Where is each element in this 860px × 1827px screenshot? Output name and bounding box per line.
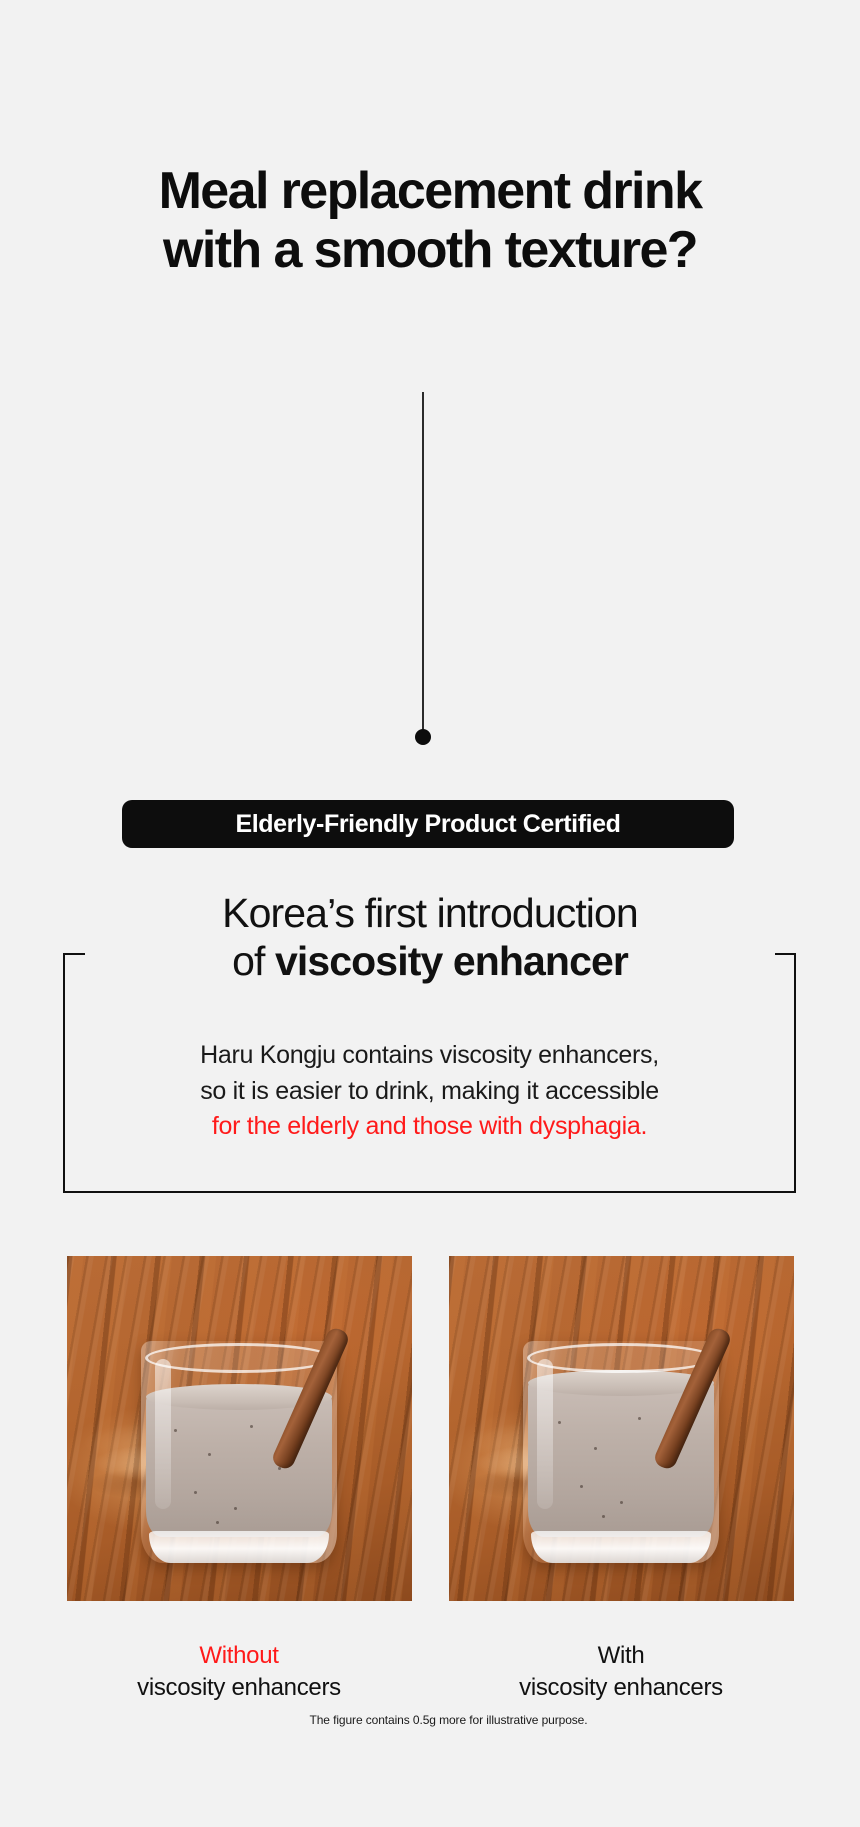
glass-base xyxy=(531,1531,711,1563)
headline-line-1: Meal replacement drink xyxy=(0,162,860,221)
drinking-glass xyxy=(141,1341,337,1563)
drink-surface xyxy=(528,1370,714,1396)
dot-icon xyxy=(415,729,431,745)
grain-speck xyxy=(250,1425,253,1428)
caption-right-top: With xyxy=(449,1640,794,1672)
subheading-line-2: of viscosity enhancer xyxy=(0,938,860,986)
body-copy-line-1: Haru Kongju contains viscosity enhancers… xyxy=(63,1038,796,1074)
body-copy-line-3-accent: for the elderly and those with dysphagia… xyxy=(63,1109,796,1145)
glass-highlight xyxy=(155,1359,171,1509)
page-title: Meal replacement drink with a smooth tex… xyxy=(0,162,860,281)
comparison-card-right xyxy=(449,1256,794,1601)
status-badge-label: Elderly-Friendly Product Certified xyxy=(235,812,620,837)
subheading-line-2-prefix: of xyxy=(232,938,275,984)
footnote-text: The figure contains 0.5g more for illust… xyxy=(258,1713,640,1727)
grain-speck xyxy=(234,1507,237,1510)
grain-speck xyxy=(208,1453,211,1456)
grain-speck xyxy=(580,1485,583,1488)
glass-rim xyxy=(527,1343,715,1373)
drinking-glass xyxy=(523,1341,719,1563)
comparison-photos xyxy=(0,1256,860,1601)
caption-left-bottom: viscosity enhancers xyxy=(67,1672,412,1704)
subheading-line-2-strong: viscosity enhancer xyxy=(275,938,628,984)
glass-of-drink-with-viscosity-enhancer xyxy=(449,1256,794,1601)
subheading-line-1: Korea’s first introduction xyxy=(0,890,860,938)
drink-liquid xyxy=(528,1381,714,1537)
footnote: The figure contains 0.5g more for illust… xyxy=(0,1713,860,1727)
grain-speck xyxy=(216,1521,219,1524)
vertical-line-icon xyxy=(422,392,424,737)
body-copy: Haru Kongju contains viscosity enhancers… xyxy=(63,1038,796,1145)
headline-line-2: with a smooth texture? xyxy=(0,221,860,280)
caption-right-bottom: viscosity enhancers xyxy=(449,1672,794,1704)
grain-speck xyxy=(174,1429,177,1432)
grain-speck xyxy=(602,1515,605,1518)
grain-speck xyxy=(558,1421,561,1424)
comparison-card-left xyxy=(67,1256,412,1601)
grain-speck xyxy=(278,1467,281,1470)
caption-left-top: Without xyxy=(67,1640,412,1672)
grain-speck xyxy=(194,1491,197,1494)
grain-speck xyxy=(594,1447,597,1450)
grain-speck xyxy=(620,1501,623,1504)
status-badge: Elderly-Friendly Product Certified xyxy=(122,800,734,848)
section-subtitle: Korea’s first introduction of viscosity … xyxy=(0,890,860,985)
grain-speck xyxy=(638,1417,641,1420)
glass-rim xyxy=(145,1343,333,1373)
comparison-captions: Without viscosity enhancers With viscosi… xyxy=(0,1640,860,1704)
grain-speck xyxy=(296,1439,299,1442)
promo-page: Meal replacement drink with a smooth tex… xyxy=(0,0,860,1827)
caption-left: Without viscosity enhancers xyxy=(67,1640,412,1704)
drink-surface xyxy=(146,1384,332,1410)
glass-of-drink-without-viscosity-enhancer xyxy=(67,1256,412,1601)
caption-right: With viscosity enhancers xyxy=(449,1640,794,1704)
grain-speck xyxy=(684,1433,687,1436)
glass-highlight xyxy=(537,1359,553,1509)
body-copy-line-2: so it is easier to drink, making it acce… xyxy=(63,1074,796,1110)
grain-speck xyxy=(666,1461,669,1464)
glass-base xyxy=(149,1531,329,1563)
drink-liquid xyxy=(146,1395,332,1537)
